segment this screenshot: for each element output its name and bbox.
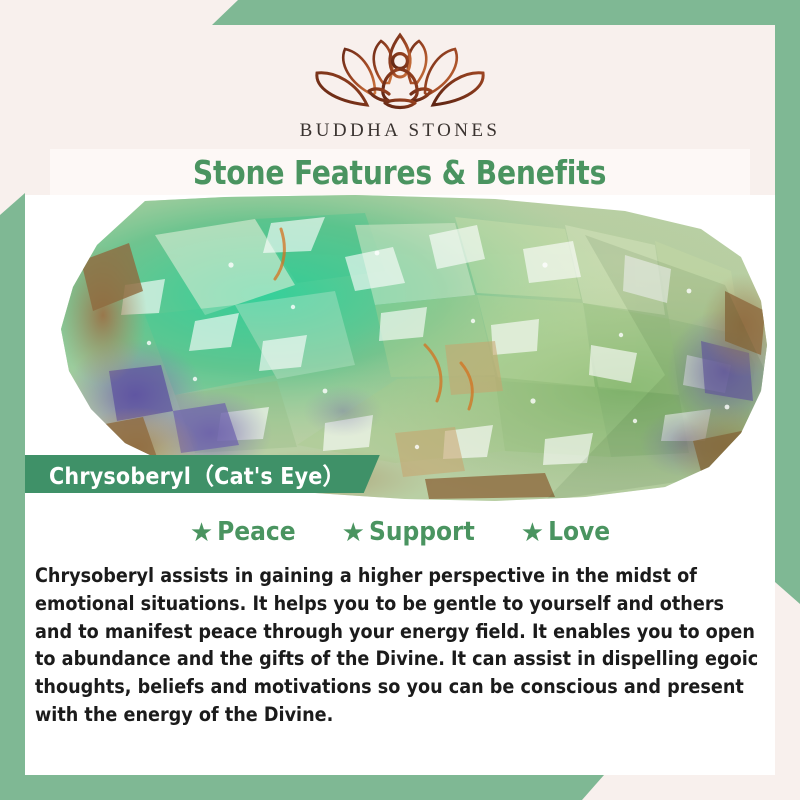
stone-description: Chrysoberyl assists in gaining a higher … [35,562,761,729]
frame-band-top [212,0,800,25]
frame-band-right [775,0,800,604]
content-card: BUDDHA STONES Stone Features & Benefits [25,25,775,775]
poster-background: BUDDHA STONES Stone Features & Benefits [0,0,800,800]
benefit-label: Love [548,517,610,547]
benefits-list: ★ Peace ★ Support ★ Love [25,517,775,547]
title-banner: Stone Features & Benefits [50,149,750,196]
header: BUDDHA STONES Stone Features & Benefits [25,25,775,195]
stone-name-label: Chrysoberyl（Cat's Eye） [49,457,346,491]
star-icon: ★ [190,519,213,545]
frame-band-left [0,193,25,800]
frame-band-bottom [0,775,604,800]
star-icon: ★ [521,519,544,545]
lotus-yogi-logo-icon [305,31,495,121]
star-icon: ★ [342,519,365,545]
benefit-item-love: ★ Love [521,517,610,547]
benefit-item-support: ★ Support [342,517,475,547]
stone-photo: Chrysoberyl（Cat's Eye） [25,195,775,507]
stone-name-ribbon: Chrysoberyl（Cat's Eye） [25,455,380,493]
brand-name: BUDDHA STONES [300,120,501,142]
benefit-label: Support [369,517,475,547]
benefit-label: Peace [217,517,296,547]
benefit-item-peace: ★ Peace [190,517,296,547]
page-title: Stone Features & Benefits [193,153,606,192]
